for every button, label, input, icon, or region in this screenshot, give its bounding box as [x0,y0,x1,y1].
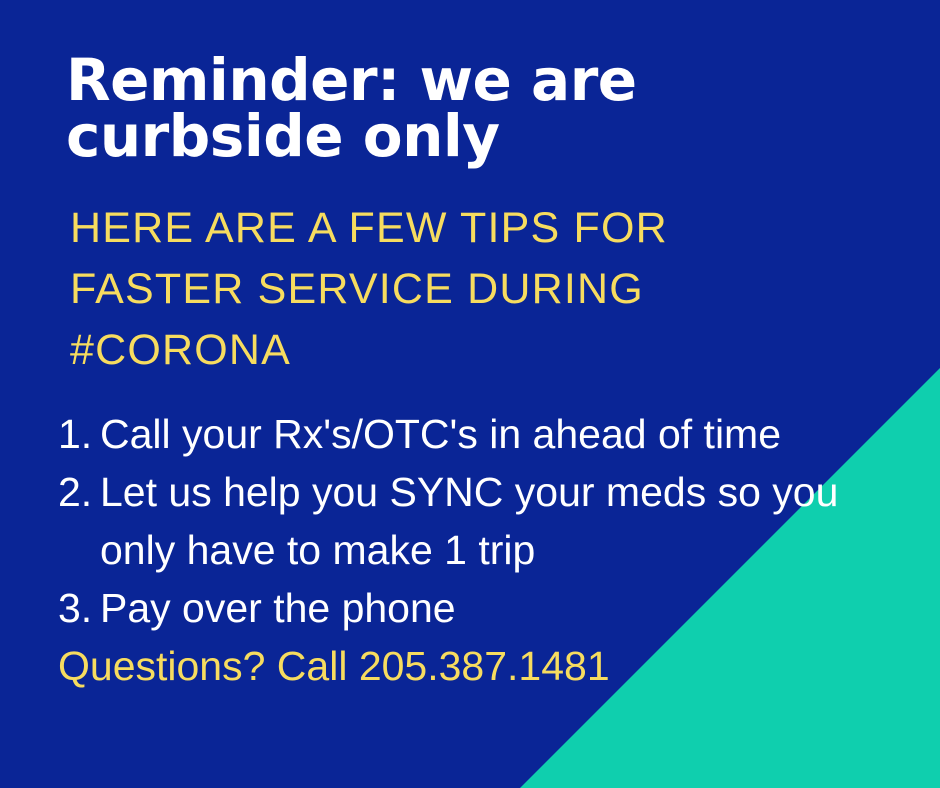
list-item: 2. Let us help you SYNC your meds so you… [58,463,868,579]
list-item-label: Let us help you SYNC your meds so you on… [100,463,868,579]
list-item: 1. Call your Rx's/OTC's in ahead of time [58,405,868,463]
list-item-marker: 2. [58,463,98,521]
list-item-label: Pay over the phone [100,579,868,637]
curbside-reminder-poster: Reminder: we are curbside only Here are … [0,0,940,788]
page-title: Reminder: we are curbside only [66,52,846,164]
list-item-marker: 3. [58,579,98,637]
list-item: 3. Pay over the phone [58,579,868,637]
subheading: Here are a few tips for faster service d… [70,198,770,381]
list-item-label: Call your Rx's/OTC's in ahead of time [100,405,868,463]
contact-phone-line: Questions? Call 205.387.1481 [58,637,610,695]
tips-list: 1. Call your Rx's/OTC's in ahead of time… [58,405,868,637]
list-item-marker: 1. [58,405,98,463]
